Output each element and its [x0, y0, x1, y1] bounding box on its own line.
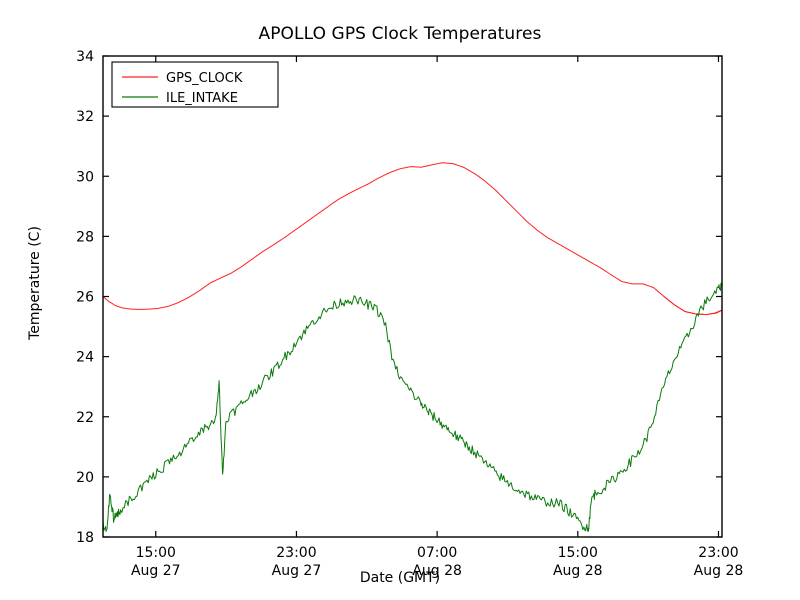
legend-label-gps-clock[interactable]: GPS_CLOCK [166, 71, 243, 86]
chart-plot-area: 18202224262830323415:00Aug 2723:00Aug 27… [0, 0, 800, 600]
axis-ticks-group: 18202224262830323415:00Aug 2723:00Aug 27… [76, 49, 743, 579]
x-tick-label-time: 23:00 [698, 545, 738, 561]
chart-legend[interactable]: GPS_CLOCKILE_INTAKE [112, 62, 278, 107]
x-tick-label-time: 15:00 [136, 545, 176, 561]
axes-frame [103, 56, 722, 537]
legend-label-ile-intake[interactable]: ILE_INTAKE [166, 91, 238, 106]
x-tick-label-time: 15:00 [558, 545, 598, 561]
data-series-group [103, 163, 722, 532]
series-gps-clock-tail [664, 297, 722, 315]
series-ile-intake [103, 283, 722, 531]
y-tick-label: 18 [76, 530, 94, 546]
y-tick-label: 28 [76, 229, 94, 245]
y-tick-label: 26 [76, 290, 94, 306]
y-tick-label: 34 [76, 49, 94, 65]
x-axis-label: Date (GMT) [0, 570, 800, 586]
y-tick-label: 32 [76, 109, 94, 125]
y-tick-label: 24 [76, 350, 94, 366]
series-gps-clock [103, 163, 722, 315]
y-tick-label: 22 [76, 410, 94, 426]
x-tick-label-time: 07:00 [417, 545, 457, 561]
y-tick-label: 20 [76, 470, 94, 486]
figure-canvas: APOLLO GPS Clock Temperatures Temperatur… [0, 0, 800, 600]
x-tick-label-time: 23:00 [276, 545, 316, 561]
y-tick-label: 30 [76, 169, 94, 185]
